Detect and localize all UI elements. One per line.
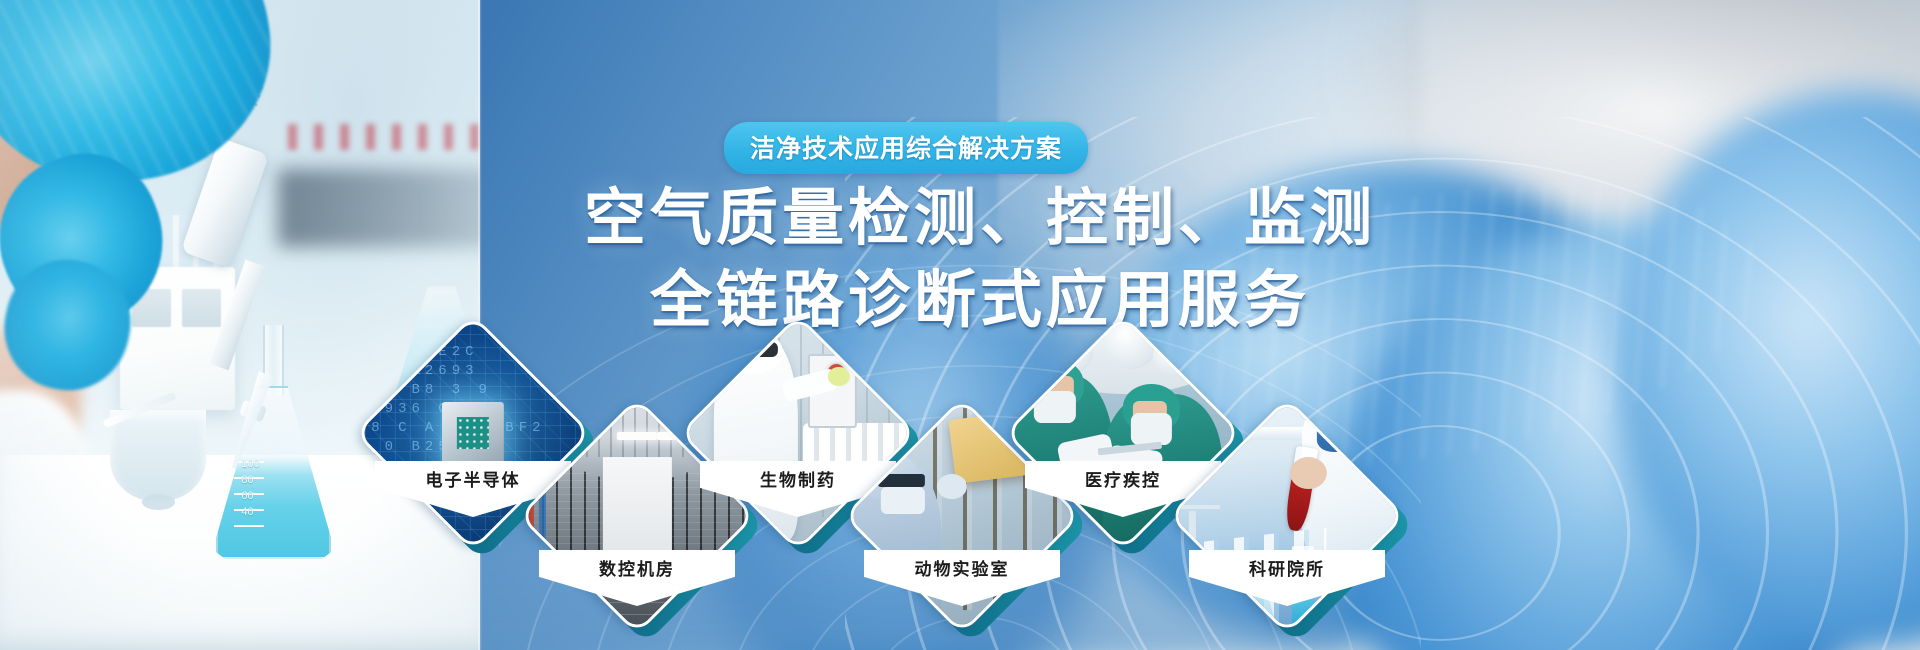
tile-research-institutes[interactable]: 科研院所 <box>1203 432 1371 600</box>
tile-label: 生物制药 <box>760 466 836 491</box>
tile-label: 科研院所 <box>1249 555 1325 580</box>
tile-animal-laboratory[interactable]: 动物实验室 <box>878 432 1046 600</box>
tile-data-center[interactable]: 数控机房 <box>553 432 721 600</box>
tile-label: 医疗疾控 <box>1085 466 1161 491</box>
tile-medical-disease-control[interactable]: 医疗疾控 <box>1039 349 1207 517</box>
tile-biopharmaceutical[interactable]: 生物制药 <box>714 349 882 517</box>
tile-label-plate: 科研院所 <box>1189 550 1385 606</box>
tile-label: 动物实验室 <box>915 555 1010 580</box>
tile-label-plate: 动物实验室 <box>864 550 1060 606</box>
tile-electronic-semiconductor[interactable]: E2 F D5926 1E2C7 8 A26930 E B8 3 97 936 … <box>389 349 557 517</box>
hero-banner: 100 80 60 40 洁净技术应用综合解决方案 空气质量检测、控制、监测 全… <box>0 0 1920 650</box>
tile-label: 数控机房 <box>599 555 675 580</box>
industry-tiles: E2 F D5926 1E2C7 8 A26930 E B8 3 97 936 … <box>0 0 1920 650</box>
tile-label-plate: 数控机房 <box>539 550 735 606</box>
tile-label: 电子半导体 <box>426 466 521 491</box>
